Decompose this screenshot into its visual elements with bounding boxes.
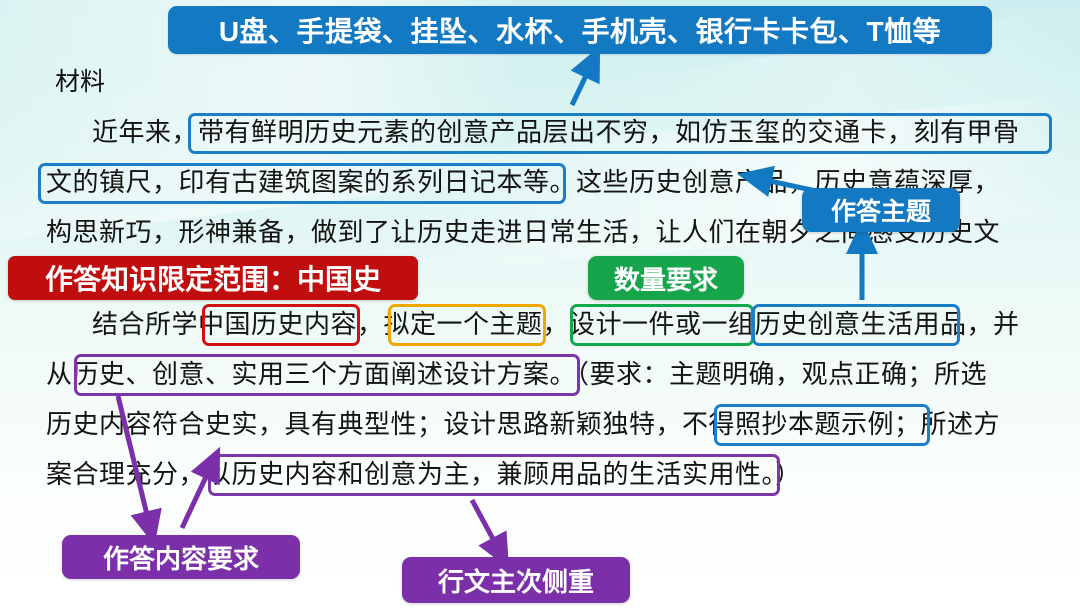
- callout-answer-content-requirement: 作答内容要求: [62, 535, 300, 579]
- callout-quantity-requirement-label: 数量要求: [614, 260, 718, 297]
- callout-answer-topic-label: 作答主题: [831, 192, 931, 228]
- question-line-2-text: 从历史、创意、实用三个方面阐述设计方案。（要求：主题明确，观点正确；所选: [0, 360, 987, 389]
- question-line-4-text: 案合理充分，以历史内容和创意为主，兼顾用品的生活实用性。）: [0, 460, 802, 489]
- question-line-3-text: 历史内容符合史实，具有典型性；设计思路新颖独特，不得照抄本题示例；所述方: [0, 410, 1000, 439]
- arrow-to-title-icon: [572, 63, 592, 105]
- callout-writing-priority-label: 行文主次侧重: [438, 562, 594, 599]
- title-banner-text: U盘、手提袋、挂坠、水杯、手机壳、银行卡卡包、T恤等: [219, 10, 941, 50]
- arrow-weight-down-icon: [472, 500, 500, 552]
- callout-quantity-requirement: 数量要求: [588, 256, 744, 300]
- slide-canvas: U盘、手提袋、挂坠、水杯、手机壳、银行卡卡包、T恤等 材料 近年来，带有鲜明历史…: [0, 0, 1080, 608]
- question-line-3: 历史内容符合史实，具有典型性；设计思路新颖独特，不得照抄本题示例；所述方: [0, 410, 1080, 440]
- callout-answer-topic: 作答主题: [802, 188, 960, 232]
- callout-answer-content-requirement-label: 作答内容要求: [103, 539, 259, 576]
- callout-knowledge-scope: 作答知识限定范围：中国史: [8, 256, 418, 300]
- arrow-layer: [0, 0, 1080, 608]
- material-label: 材料: [55, 62, 105, 98]
- callout-knowledge-scope-label: 作答知识限定范围：中国史: [45, 258, 381, 298]
- material-line-1: 近年来，带有鲜明历史元素的创意产品层出不穷，如仿玉玺的交通卡，刻有甲骨: [0, 118, 1080, 148]
- title-banner: U盘、手提袋、挂坠、水杯、手机壳、银行卡卡包、T恤等: [168, 6, 992, 54]
- question-line-4: 案合理充分，以历史内容和创意为主，兼顾用品的生活实用性。）: [0, 460, 1080, 490]
- question-line-1: 结合所学中国历史内容，拟定一个主题，设计一件或一组历史创意生活用品，并: [0, 310, 1080, 340]
- question-line-1-text: 结合所学中国历史内容，拟定一个主题，设计一件或一组历史创意生活用品，并: [0, 310, 1020, 339]
- material-line-1-text: 近年来，带有鲜明历史元素的创意产品层出不穷，如仿玉玺的交通卡，刻有甲骨: [0, 118, 1020, 147]
- callout-writing-priority: 行文主次侧重: [402, 557, 630, 603]
- question-line-2: 从历史、创意、实用三个方面阐述设计方案。（要求：主题明确，观点正确；所选: [0, 360, 1080, 390]
